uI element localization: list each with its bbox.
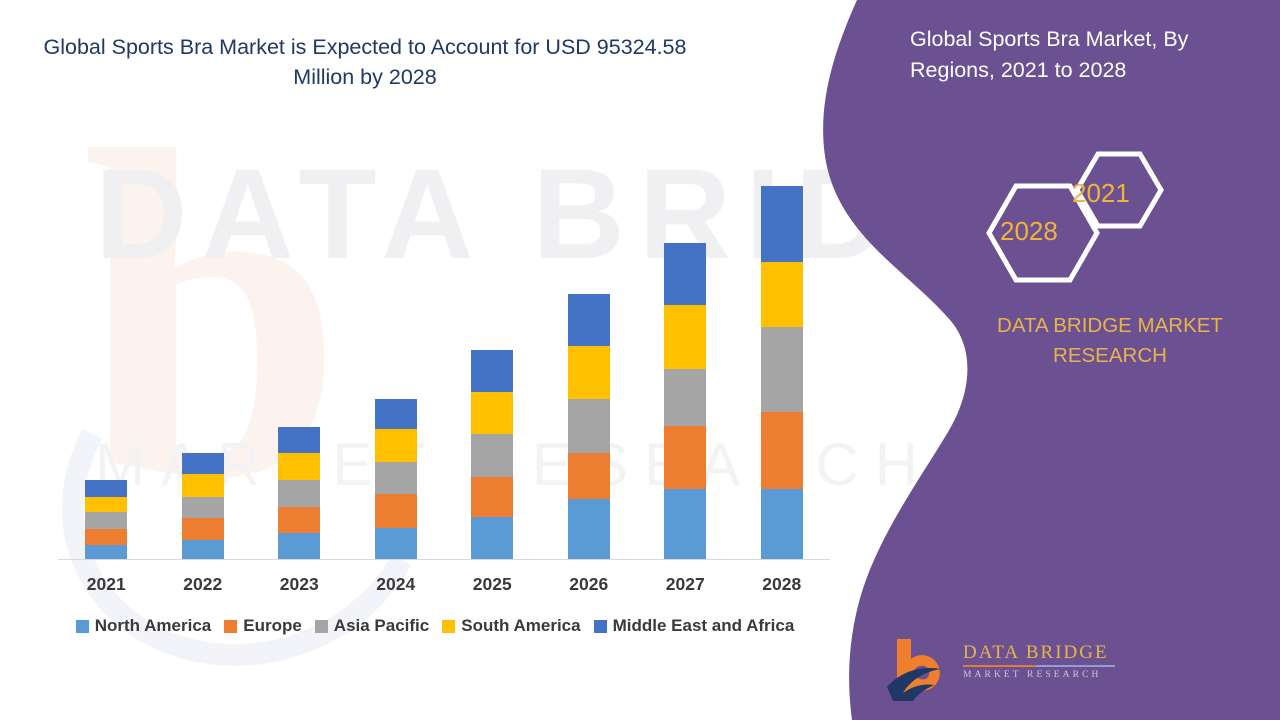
stacked-bar-2022[interactable] — [182, 453, 224, 559]
stacked-bar-chart — [40, 120, 830, 560]
bar-segment[interactable] — [568, 346, 610, 399]
bar-segment[interactable] — [664, 369, 706, 426]
logo-line2: MARKET RESEARCH — [963, 671, 1123, 681]
bar-segment[interactable] — [761, 327, 803, 412]
bar-slot — [155, 179, 252, 559]
bar-segment[interactable] — [182, 540, 224, 559]
bar-segment[interactable] — [375, 462, 417, 494]
legend-item[interactable]: Europe — [224, 616, 302, 636]
stacked-bar-2021[interactable] — [85, 480, 127, 559]
bar-slot — [541, 179, 638, 559]
bar-segment[interactable] — [85, 480, 127, 497]
bar-segment[interactable] — [375, 528, 417, 559]
x-axis-label-2025: 2025 — [444, 574, 541, 595]
stacked-bar-2026[interactable] — [568, 294, 610, 559]
chart-plot-area — [58, 179, 830, 559]
bar-segment[interactable] — [182, 474, 224, 497]
bar-segment[interactable] — [471, 350, 513, 392]
legend-item[interactable]: Middle East and Africa — [594, 616, 795, 636]
bar-segment[interactable] — [761, 262, 803, 327]
bar-segment[interactable] — [375, 429, 417, 462]
bar-slot — [734, 179, 831, 559]
bar-segment[interactable] — [568, 499, 610, 559]
stacked-bar-2025[interactable] — [471, 350, 513, 559]
bar-segment[interactable] — [664, 489, 706, 559]
logo-divider — [963, 665, 1115, 667]
legend-swatch-icon — [442, 620, 455, 633]
bar-segment[interactable] — [375, 494, 417, 528]
legend-item[interactable]: South America — [442, 616, 580, 636]
bar-segment[interactable] — [278, 427, 320, 453]
bar-segment[interactable] — [471, 477, 513, 517]
bar-segment[interactable] — [85, 529, 127, 545]
bar-segment[interactable] — [664, 305, 706, 369]
bar-segment[interactable] — [278, 453, 320, 480]
bar-segment[interactable] — [471, 517, 513, 559]
bar-segment[interactable] — [85, 545, 127, 559]
bar-segment[interactable] — [568, 453, 610, 499]
bar-segment[interactable] — [182, 518, 224, 540]
x-axis-line — [58, 559, 830, 560]
hexagon-badges: 2021 2028 — [980, 150, 1190, 290]
bar-slot — [58, 179, 155, 559]
stacked-bar-2024[interactable] — [375, 399, 417, 559]
bar-segment[interactable] — [761, 412, 803, 489]
bar-segment[interactable] — [761, 186, 803, 262]
bar-slot — [637, 179, 734, 559]
bar-segment[interactable] — [471, 434, 513, 477]
stacked-bar-2027[interactable] — [664, 243, 706, 559]
legend-swatch-icon — [594, 620, 607, 633]
bar-slot — [444, 179, 541, 559]
bar-segment[interactable] — [568, 399, 610, 453]
brand-name: DATA BRIDGE MARKET RESEARCH — [960, 311, 1260, 370]
legend-swatch-icon — [315, 620, 328, 633]
logo-mark-icon — [885, 635, 957, 701]
bar-segment[interactable] — [375, 399, 417, 429]
x-axis-label-2028: 2028 — [734, 574, 831, 595]
bar-segment[interactable] — [761, 489, 803, 559]
page-title: Global Sports Bra Market is Expected to … — [40, 33, 690, 92]
bar-segment[interactable] — [278, 507, 320, 533]
bar-segment[interactable] — [278, 533, 320, 559]
legend-swatch-icon — [224, 620, 237, 633]
logo-line1: DATA BRIDGE — [963, 643, 1123, 662]
x-axis-label-2023: 2023 — [251, 574, 348, 595]
hexagon-label-2021: 2021 — [1072, 178, 1130, 209]
chart-legend: North AmericaEuropeAsia PacificSouth Ame… — [40, 616, 830, 636]
x-axis-tick-labels: 20212022202320242025202620272028 — [58, 574, 830, 595]
stacked-bar-2023[interactable] — [278, 427, 320, 559]
x-axis-label-2024: 2024 — [348, 574, 445, 595]
legend-label: North America — [95, 616, 212, 636]
hexagon-label-2028: 2028 — [1000, 216, 1058, 247]
bar-segment[interactable] — [182, 453, 224, 474]
bar-segment[interactable] — [471, 392, 513, 434]
legend-label: South America — [461, 616, 580, 636]
bar-segment[interactable] — [182, 497, 224, 518]
bar-segment[interactable] — [85, 512, 127, 529]
bar-segment[interactable] — [85, 497, 127, 512]
bar-segment[interactable] — [568, 294, 610, 346]
x-axis-label-2021: 2021 — [58, 574, 155, 595]
company-logo: DATA BRIDGE MARKET RESEARCH — [885, 635, 1115, 707]
legend-label: Europe — [243, 616, 302, 636]
bar-segment[interactable] — [664, 426, 706, 489]
bar-segment[interactable] — [278, 480, 320, 507]
bar-segment[interactable] — [664, 243, 706, 305]
bar-slot — [348, 179, 445, 559]
x-axis-label-2026: 2026 — [541, 574, 638, 595]
stacked-bar-2028[interactable] — [761, 186, 803, 559]
legend-swatch-icon — [76, 620, 89, 633]
legend-item[interactable]: North America — [76, 616, 212, 636]
x-axis-label-2027: 2027 — [637, 574, 734, 595]
panel-title: Global Sports Bra Market, By Regions, 20… — [910, 24, 1250, 85]
bar-slot — [251, 179, 348, 559]
legend-label: Middle East and Africa — [613, 616, 795, 636]
legend-item[interactable]: Asia Pacific — [315, 616, 429, 636]
x-axis-label-2022: 2022 — [155, 574, 252, 595]
infographic-canvas: b DATA BRIDGE MARKET RESEARCH Global Spo… — [0, 0, 1280, 720]
legend-label: Asia Pacific — [334, 616, 429, 636]
